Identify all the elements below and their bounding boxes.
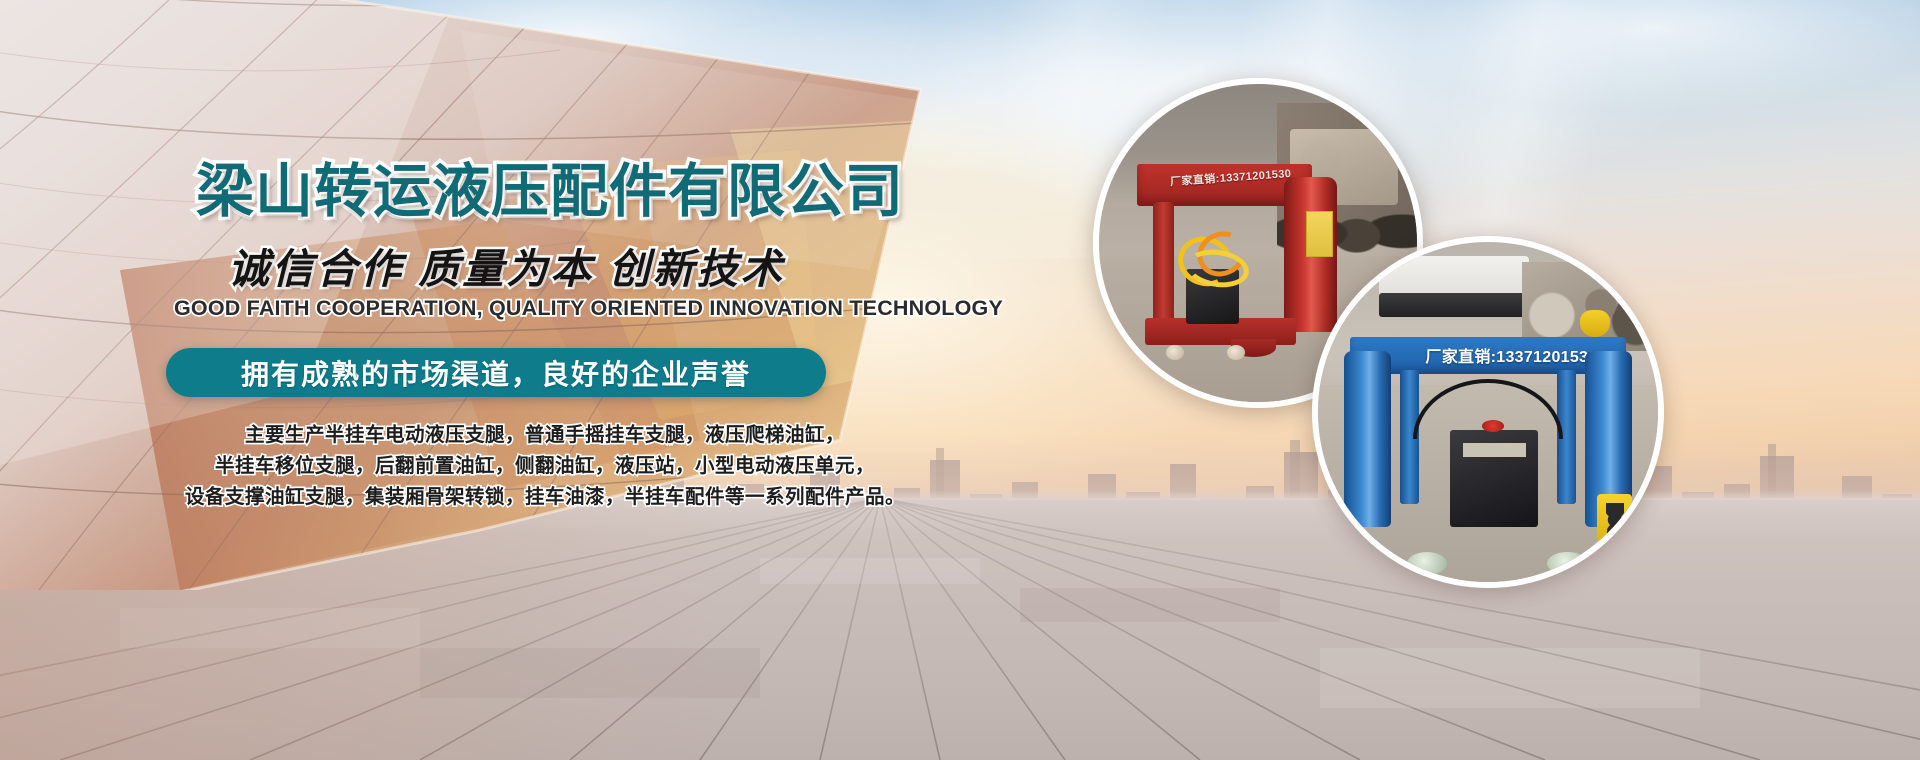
blue-support-leg-unit: 厂家直销:13371201530 [1332,337,1645,568]
red-support-leg-machine: 厂家直销:13371201530 [1137,148,1341,358]
black-hydraulic-pump-station [1450,430,1538,527]
product-photo-blue-hydraulic-unit[interactable]: 厂家直销:13371201530 [1312,236,1664,588]
caster-wheel [1166,345,1184,360]
company-title: 梁山转运液压配件有限公司 [196,163,916,221]
company-banner: 厂家直销:13371201530 [0,0,1920,760]
english-tagline: GOOD FAITH COOPERATION, QUALITY ORIENTED… [174,298,994,320]
product-description: 主要生产半挂车电动液压支腿，普通手摇挂车支腿，液压爬梯油缸， 半挂车移位支腿，后… [150,420,940,513]
description-line: 主要生产半挂车电动液压支腿，普通手摇挂车支腿，液压爬梯油缸， [150,420,940,451]
yellow-cable-bundle [1174,232,1280,303]
highlight-badge: 拥有成熟的市场渠道，良好的企业声誉 [166,348,826,397]
vehicle-bumper [1379,293,1529,317]
highlight-badge-label: 拥有成熟的市场渠道，良好的企业声誉 [241,353,751,393]
banner-text-content: 梁山转运液压配件有限公司 诚信合作 质量为本 创新技术 GOOD FAITH C… [0,0,1060,760]
red-leg-column [1153,202,1173,328]
blue-foot-pad-left [1335,559,1401,573]
pump-nameplate [1463,443,1526,457]
yellow-pendant-controller [1597,494,1631,554]
caster-wheel [1227,345,1245,360]
description-line: 半挂车移位支腿，后翻前置油缸，侧翻油缸，液压站，小型电动液压单元， [150,451,940,482]
red-pressure-valve [1482,420,1504,432]
blue-hydraulic-cylinder-left [1344,351,1391,527]
company-slogan: 诚信合作 质量为本 创新技术 [228,249,988,290]
description-line: 设备支撑油缸支腿，集装厢骨架转锁，挂车油漆，半挂车配件等一系列配件产品。 [150,482,940,513]
